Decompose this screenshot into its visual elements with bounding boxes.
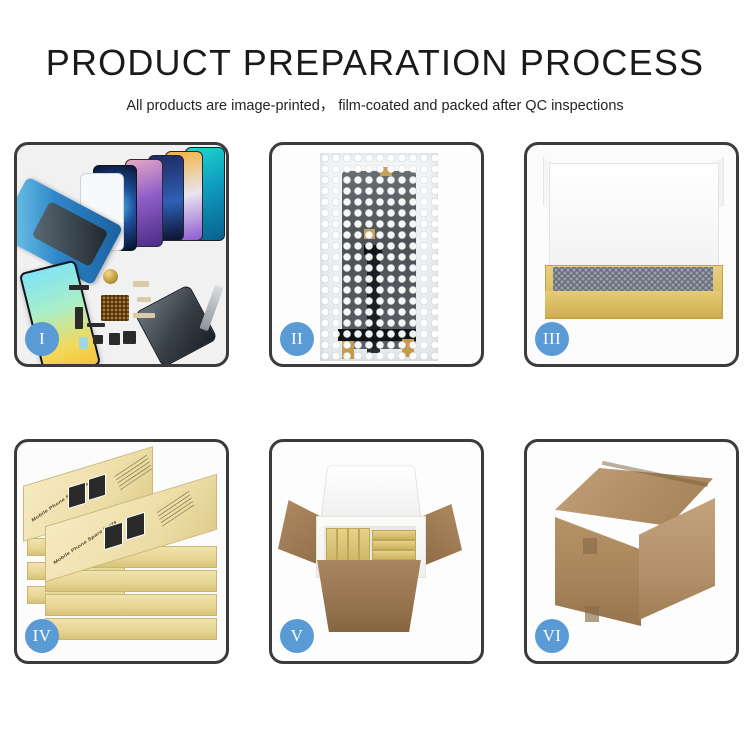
part-flex [137, 297, 151, 302]
part-cable [75, 307, 83, 329]
step-card-6[interactable]: VI [524, 439, 739, 664]
packed-retail-box [372, 550, 416, 560]
bubble-bag [320, 153, 438, 361]
carton-tape-upper [583, 538, 597, 554]
screw-tray-icon [101, 295, 129, 321]
box-window-graphic [104, 521, 123, 550]
styrofoam-lid [320, 465, 422, 520]
packed-retail-box [372, 540, 416, 550]
packed-retail-box [372, 530, 416, 540]
step-badge-1: I [25, 322, 59, 356]
step-badge-6: VI [535, 619, 569, 653]
step-card-2[interactable]: II [269, 142, 484, 367]
box-window-graphic [126, 512, 145, 541]
carton-tape-lower [585, 606, 599, 622]
part-speaker [123, 331, 136, 344]
bubble-wrap-contents [553, 267, 713, 293]
part-button [93, 335, 103, 344]
step-badge-2: II [280, 322, 314, 356]
part-chip [69, 285, 89, 290]
box-window-graphic [68, 482, 86, 510]
step-card-3[interactable]: III [524, 142, 739, 367]
process-steps-grid: I II [14, 142, 750, 664]
step-card-4[interactable]: Mobile Phone Spare Parts Mobile Phone Sp… [14, 439, 229, 664]
bubble-texture [320, 153, 438, 361]
part-flex [133, 313, 155, 318]
part-sim-tray [79, 337, 88, 349]
step-card-1[interactable]: I [14, 142, 229, 367]
process-row-bottom: Mobile Phone Spare Parts Mobile Phone Sp… [14, 439, 750, 664]
step-badge-4: IV [25, 619, 59, 653]
tweezers-icon [199, 285, 223, 331]
carton-body [310, 560, 428, 632]
box-front-panel [545, 291, 721, 317]
step-badge-5: V [280, 619, 314, 653]
speaker-module-icon [103, 269, 118, 284]
page-subtitle: All products are image-printed， film-coa… [0, 81, 750, 114]
step-badge-3: III [535, 322, 569, 356]
retail-box [45, 618, 217, 640]
process-row-top: I II [14, 142, 750, 367]
box-spec-lines [156, 488, 195, 526]
part-flex [133, 281, 149, 287]
box-spec-lines [114, 452, 153, 490]
part-camera [109, 333, 120, 345]
box-window-graphic [88, 473, 106, 501]
product-preparation-infographic: PRODUCT PREPARATION PROCESS All products… [0, 0, 750, 750]
part-cable [87, 323, 105, 327]
header: PRODUCT PREPARATION PROCESS All products… [0, 0, 750, 114]
box-lid-panel [549, 163, 719, 273]
page-title: PRODUCT PREPARATION PROCESS [0, 0, 750, 81]
step-card-5[interactable]: V [269, 439, 484, 664]
retail-box [45, 594, 217, 616]
